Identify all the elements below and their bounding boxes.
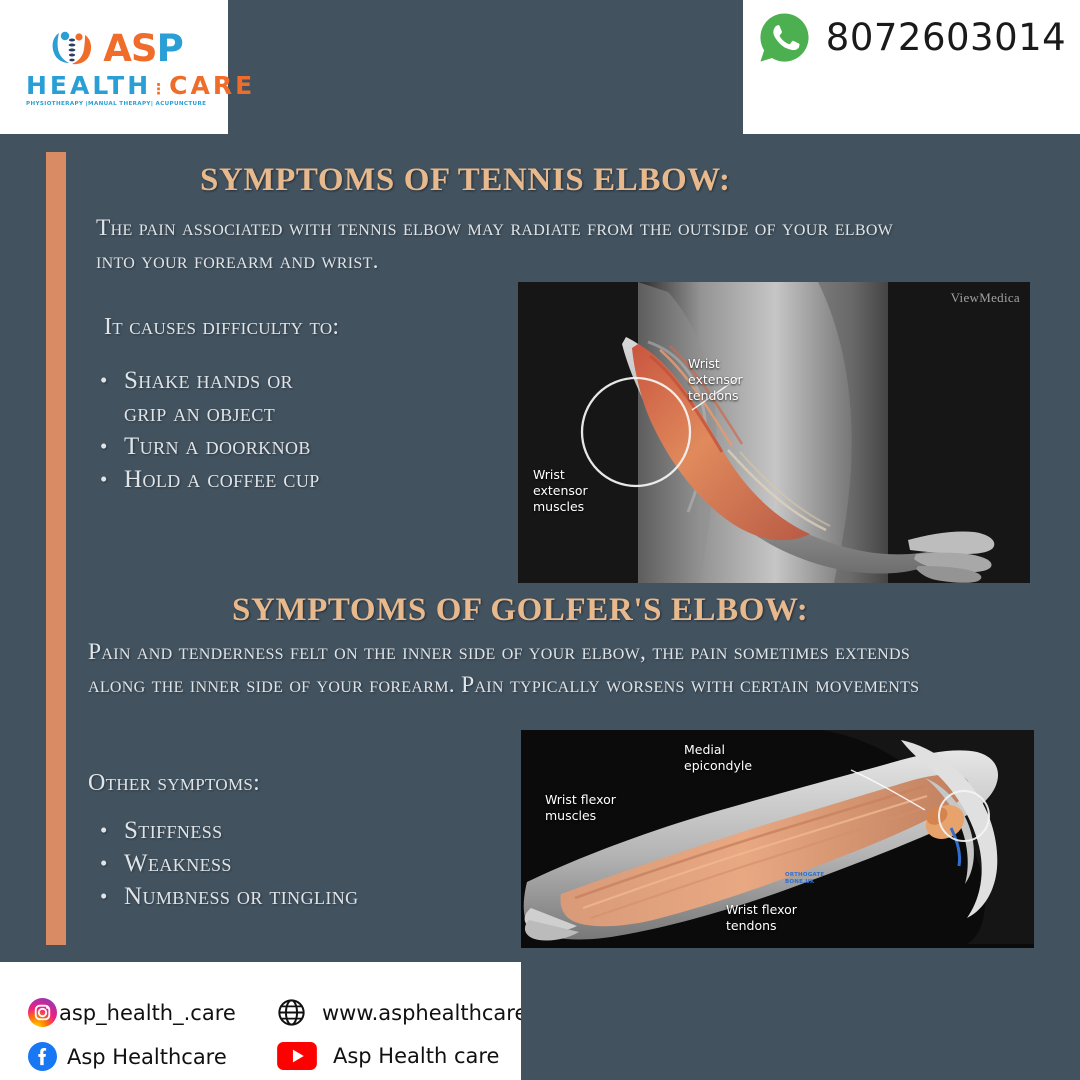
facebook-icon [28, 1042, 57, 1071]
decorative-accent-bar [46, 152, 66, 945]
orthogate-watermark: ORTHOGATE BONE.UK [785, 872, 824, 886]
globe-icon [277, 998, 306, 1027]
golfers-elbow-lead-in: Other symptoms: [88, 770, 260, 797]
social-link-facebook[interactable]: Asp Healthcare [28, 1042, 227, 1071]
whatsapp-icon [757, 10, 812, 65]
golfers-elbow-title: SYMPTOMS OF GOLFER'S ELBOW: [232, 592, 808, 629]
youtube-channel-name[interactable]: Asp Health care [333, 1044, 499, 1068]
instagram-icon [28, 998, 57, 1027]
golfers-elbow-body: Pain and tenderness felt on the inner si… [88, 636, 968, 702]
instagram-handle[interactable]: asp_health_.care [59, 1001, 236, 1025]
list-item: Hold a coffee cup [100, 463, 480, 496]
list-item-text: Weakness [124, 850, 232, 877]
brand-logo-panel: ASP HEALTH⋮CARE PHYSIOTHERAPY |MANUAL TH… [0, 0, 228, 134]
contact-panel[interactable]: 8072603014 [743, 0, 1080, 134]
golfers-elbow-symptom-list: Stiffness Weakness Numbness or tingling [100, 814, 480, 913]
list-item-text: Turn a doorknob [124, 433, 311, 460]
asp-logo-mark [45, 27, 99, 71]
website-url[interactable]: www.asphealthcare.in [322, 1001, 521, 1025]
list-item: Shake hands or grip an object [100, 364, 480, 430]
website-link[interactable]: www.asphealthcare.in [277, 998, 521, 1027]
list-item-text: Hold a coffee cup [124, 466, 320, 493]
golfers-elbow-anatomy-image: Medial epicondyle Wrist flexor muscles W… [521, 730, 1034, 948]
figure-label-wrist-extensor-muscles: Wrist extensor muscles [533, 467, 588, 515]
logo-brand-text: ASP [103, 30, 182, 67]
logo-wordmark: HEALTH⋮CARE [26, 73, 202, 98]
header-bar: ASP HEALTH⋮CARE PHYSIOTHERAPY |MANUAL TH… [0, 0, 1080, 134]
social-link-youtube[interactable]: Asp Health care [277, 1042, 499, 1070]
facebook-page-name[interactable]: Asp Healthcare [67, 1045, 227, 1069]
footer-social-panel: asp_health_.care Asp Healthcare www.asph… [0, 962, 521, 1080]
list-item-text: Shake hands or [124, 367, 293, 394]
list-item-text: Stiffness [124, 817, 223, 844]
phone-number[interactable]: 8072603014 [826, 10, 1066, 65]
tennis-elbow-symptom-list: Shake hands or grip an object Turn a doo… [100, 364, 480, 496]
figure-label-wrist-extensor-tendons: Wrist extensor tendons [688, 356, 743, 404]
tennis-elbow-lead-in: It causes difficulty to: [104, 314, 339, 341]
figure-label-wrist-flexor-tendons: Wrist flexor tendons [726, 902, 797, 934]
social-link-instagram[interactable]: asp_health_.care [28, 998, 236, 1027]
youtube-icon [277, 1042, 317, 1070]
figure-label-medial-epicondyle: Medial epicondyle [684, 742, 752, 774]
tennis-elbow-body: The pain associated with tennis elbow ma… [96, 212, 896, 278]
list-item: Stiffness [100, 814, 480, 847]
tennis-elbow-title: SYMPTOMS OF TENNIS ELBOW: [200, 162, 731, 199]
tennis-elbow-illustration [518, 282, 1030, 583]
list-item: Weakness [100, 847, 480, 880]
tennis-elbow-anatomy-image: Wrist extensor tendons Wrist extensor mu… [518, 282, 1030, 583]
list-item-text: Numbness or tingling [124, 883, 359, 910]
logo-tagline: PHYSIOTHERAPY |MANUAL THERAPY| ACUPUNCTU… [26, 102, 202, 108]
viewmedica-watermark: ViewMedica [951, 290, 1020, 306]
list-item-continuation: grip an object [124, 397, 480, 430]
figure-label-wrist-flexor-muscles: Wrist flexor muscles [545, 792, 616, 824]
list-item: Numbness or tingling [100, 880, 480, 913]
list-item: Turn a doorknob [100, 430, 480, 463]
